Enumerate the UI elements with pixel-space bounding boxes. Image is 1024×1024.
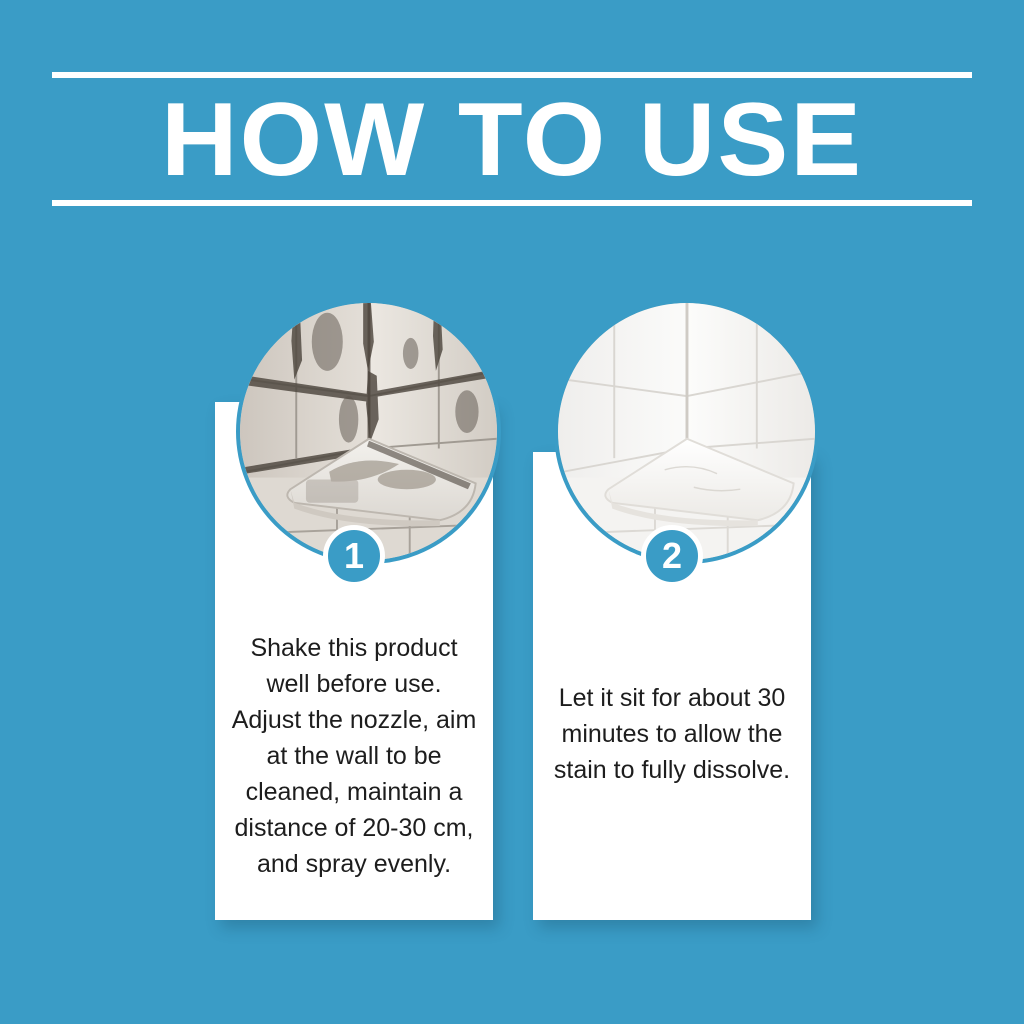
photo-clip <box>240 303 497 560</box>
step-badge-2: 2 <box>641 525 703 587</box>
step-card-1: 1 Shake this product well before use. Ad… <box>215 402 493 920</box>
step-text-1: Shake this product well before use. Adju… <box>229 630 479 882</box>
clean-shower-corner-shelf-photo <box>554 299 819 564</box>
step-text-2: Let it sit for about 30 minutes to allow… <box>547 680 797 788</box>
clean-corner-illustration <box>558 303 815 560</box>
dirty-corner-illustration <box>240 303 497 560</box>
step-card-2: 2 Let it sit for about 30 minutes to all… <box>533 452 811 920</box>
photo-clip <box>558 303 815 560</box>
dirty-shower-corner-shelf-photo <box>236 299 501 564</box>
steps-container: 1 Shake this product well before use. Ad… <box>0 0 1024 1024</box>
step-badge-1: 1 <box>323 525 385 587</box>
